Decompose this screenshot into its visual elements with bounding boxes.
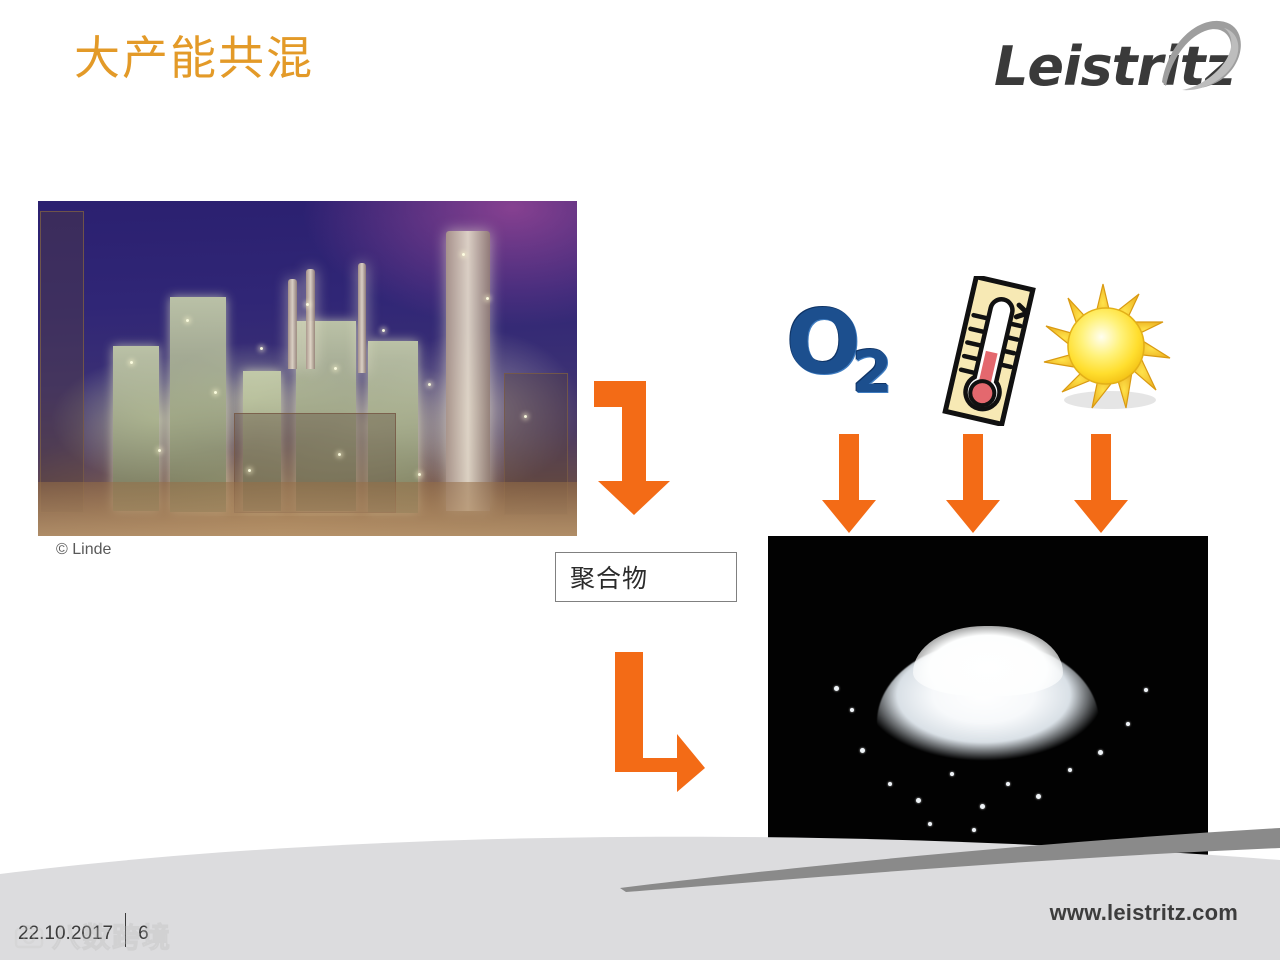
footer-page-number: 6	[138, 923, 149, 945]
slide-canvas: 大产能共混 Leistritz	[0, 0, 1280, 960]
refinery-image	[38, 201, 577, 536]
page-title: 大产能共混	[74, 34, 314, 85]
o2-subscript: 2	[852, 343, 892, 401]
o2-icon: O 2	[786, 303, 898, 403]
footer-swoosh-decoration	[620, 826, 1280, 892]
powder-pile-highlight	[913, 626, 1063, 696]
arrow-elbow-down-right	[611, 650, 707, 794]
arrow-down-light	[1072, 432, 1130, 536]
arrow-elbow-right-down	[592, 377, 676, 519]
image-credit: © Linde	[56, 541, 111, 559]
refinery-structures	[38, 201, 577, 536]
brand-logo: Leistritz	[994, 14, 1244, 110]
polymer-label: 聚合物	[570, 559, 648, 595]
footer-date: 22.10.2017	[18, 923, 113, 945]
sun-icon	[1040, 282, 1175, 414]
swoosh-arc-icon	[1160, 16, 1246, 100]
polymer-label-box: 聚合物	[555, 552, 737, 602]
thermometer-icon	[938, 276, 1044, 426]
arrow-down-temperature	[944, 432, 1002, 536]
arrow-down-oxygen	[820, 432, 878, 536]
footer-meta: 22.10.2017 6	[18, 905, 149, 945]
footer-divider	[125, 913, 126, 947]
o2-symbol: O	[786, 299, 861, 387]
footer-website: www.leistritz.com	[1050, 900, 1238, 926]
